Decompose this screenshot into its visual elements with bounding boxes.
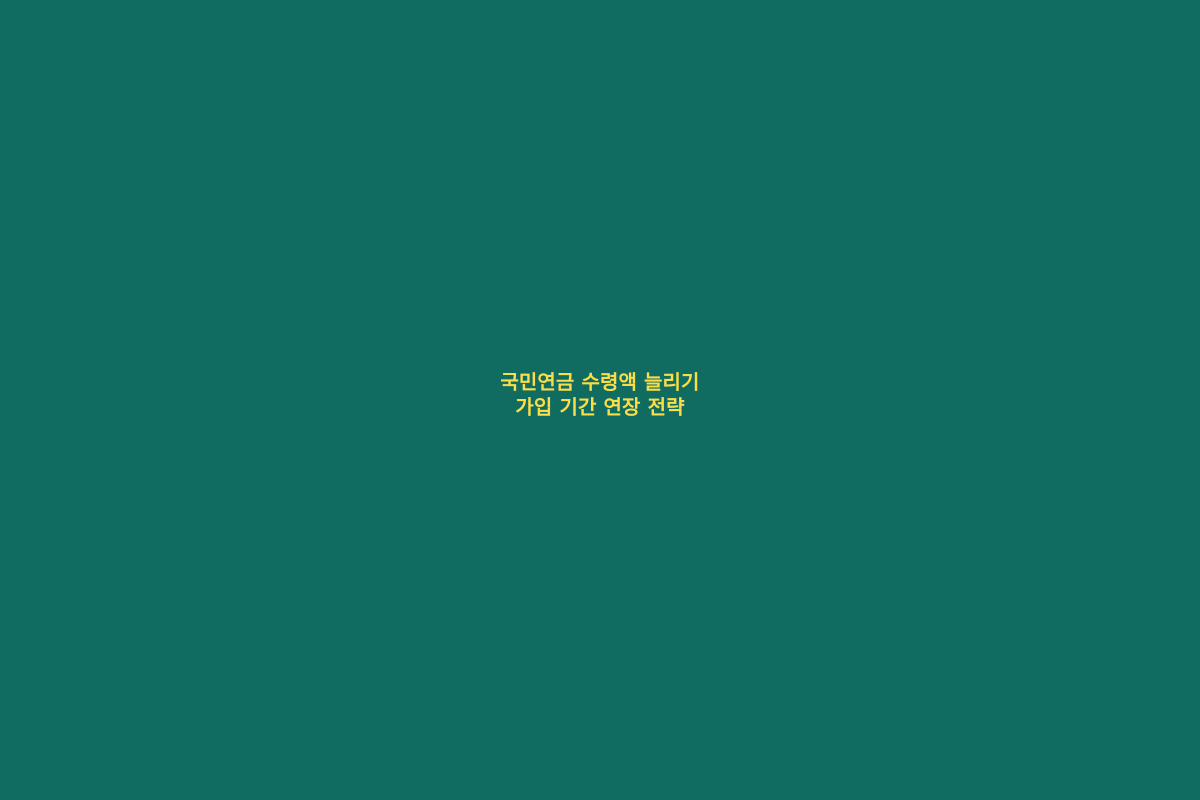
banner-title-line-2: 가입 기간 연장 전략 xyxy=(0,395,1200,420)
banner-title-line-1: 국민연금 수령액 늘리기 xyxy=(0,370,1200,395)
banner-title-block: 국민연금 수령액 늘리기 가입 기간 연장 전략 xyxy=(0,370,1200,420)
title-banner: 국민연금 수령액 늘리기 가입 기간 연장 전략 xyxy=(0,0,1200,800)
